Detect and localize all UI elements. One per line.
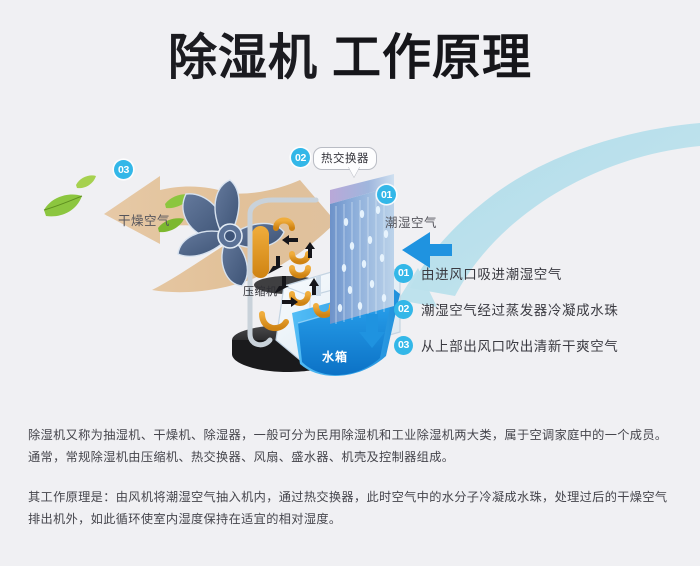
- legend-list: 01 由进风口吸进潮湿空气 02 潮湿空气经过蒸发器冷凝成水珠 03 从上部出风…: [394, 255, 694, 363]
- paragraph-2: 其工作原理是：由风机将潮湿空气抽入机内，通过热交换器，此时空气中的水分子冷凝成水…: [28, 486, 674, 530]
- callout-tail: [348, 166, 360, 177]
- label-water-tank: 水箱: [322, 348, 348, 365]
- legend-badge-03: 03: [394, 336, 413, 355]
- legend-label-01: 由进风口吸进潮湿空气: [421, 263, 562, 283]
- description-block: 除湿机又称为抽湿机、干燥机、除湿器，一般可分为民用除湿机和工业除湿机两大类，属于…: [28, 424, 674, 530]
- legend-badge-01: 01: [394, 264, 413, 283]
- label-dry-air: 干燥空气: [118, 210, 170, 229]
- paragraph-1-line-2: 通常，常规除湿机由压缩机、热交换器、风扇、盛水器、机壳及控制器组成。: [28, 446, 674, 468]
- title-secondary: 工作原理: [332, 31, 532, 85]
- legend-item-01: 01 由进风口吸进潮湿空气: [394, 255, 694, 291]
- label-compressor: 压缩机: [243, 283, 278, 299]
- title-primary: 除湿机: [168, 31, 318, 85]
- legend-badge-02: 02: [394, 300, 413, 319]
- page-title: 除湿机工作原理: [0, 34, 700, 83]
- legend-label-02: 潮湿空气经过蒸发器冷凝成水珠: [421, 299, 618, 319]
- paragraph-1-line-1: 除湿机又称为抽湿机、干燥机、除湿器，一般可分为民用除湿机和工业除湿机两大类，属于…: [28, 424, 674, 446]
- coil-accumulator: [252, 226, 269, 278]
- paragraph-2-line-1: 其工作原理是：由风机将潮湿空气抽入机内，通过热交换器，此时空气中的水分子冷凝成水…: [28, 486, 674, 508]
- paragraph-1: 除湿机又称为抽湿机、干燥机、除湿器，一般可分为民用除湿机和工业除湿机两大类，属于…: [28, 424, 674, 468]
- badge-02-heat-exchanger: 02: [291, 148, 310, 167]
- paragraph-2-line-2: 排出机外，如此循环使室内湿度保持在适宜的相对湿度。: [28, 508, 674, 530]
- legend-label-03: 从上部出风口吹出清新干爽空气: [421, 335, 618, 355]
- infographic-page: 除湿机工作原理: [0, 0, 700, 566]
- badge-01-humid-air: 01: [377, 185, 396, 204]
- legend-item-02: 02 潮湿空气经过蒸发器冷凝成水珠: [394, 291, 694, 327]
- legend-item-03: 03 从上部出风口吹出清新干爽空气: [394, 327, 694, 363]
- badge-03-dry-air: 03: [114, 160, 133, 179]
- label-humid-air: 潮湿空气: [385, 212, 437, 231]
- callout-heat-exchanger: 热交换器: [313, 147, 377, 170]
